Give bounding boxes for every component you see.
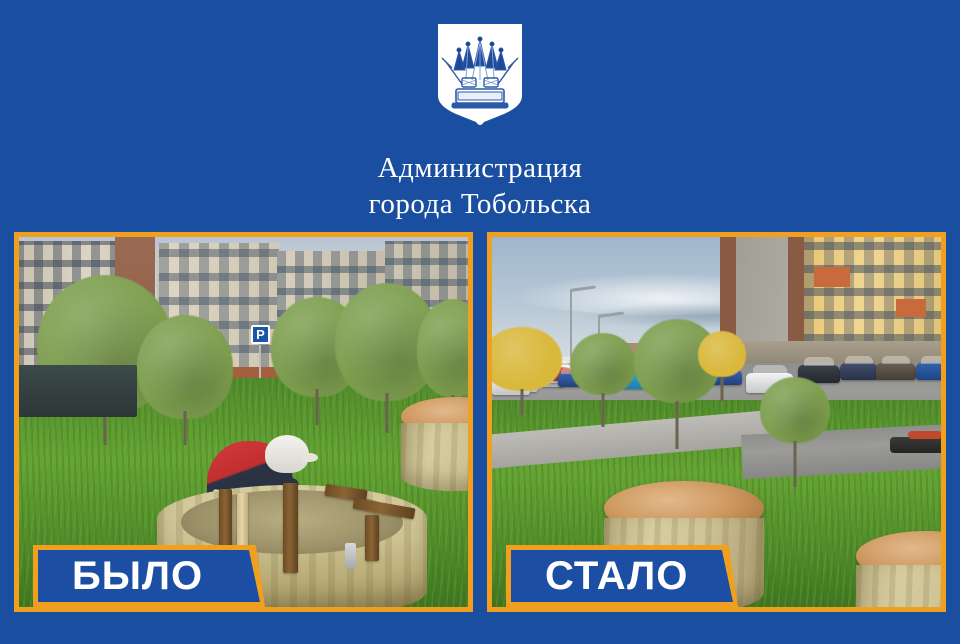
support-board — [365, 515, 379, 561]
header: Администрация города Тобольска — [0, 0, 960, 225]
tree-trunk — [184, 411, 187, 445]
wooden-planter — [856, 531, 941, 607]
tree-canopy — [570, 333, 636, 395]
car — [876, 363, 916, 380]
car — [916, 363, 941, 380]
wooden-planter — [401, 397, 468, 491]
tree-trunk — [602, 393, 605, 427]
tree-canopy — [760, 377, 830, 443]
coat-of-arms-icon — [432, 22, 528, 128]
tree-canopy — [492, 327, 562, 391]
banner-before: БЫЛО — [33, 545, 265, 607]
tree-canopy — [417, 299, 468, 397]
photo-card-before: P — [14, 232, 473, 612]
tree — [570, 333, 636, 427]
tree-trunk — [676, 401, 679, 449]
photo-gallery: P — [0, 232, 960, 614]
planter-body — [856, 565, 941, 607]
photo-card-after: СТАЛО — [487, 232, 946, 612]
tree — [760, 377, 830, 487]
building-accent — [814, 267, 850, 287]
org-title-line-1: Администрация — [378, 152, 583, 184]
tree-trunk — [794, 441, 797, 487]
banner-label-before: БЫЛО — [38, 554, 203, 599]
banner-inner: СТАЛО — [511, 550, 733, 602]
equipment — [908, 431, 941, 439]
equipment — [890, 437, 941, 453]
fence — [19, 365, 137, 417]
banner-inner: БЫЛО — [38, 550, 260, 602]
car — [840, 363, 878, 380]
tree-trunk — [721, 377, 724, 401]
metal-bracket — [345, 543, 356, 569]
tree-canopy — [137, 315, 233, 419]
banner-after: СТАЛО — [506, 545, 738, 607]
tree — [698, 331, 746, 401]
planter-body — [401, 423, 468, 491]
tree-trunk — [386, 393, 389, 433]
parking-sign: P — [251, 325, 270, 344]
tree-trunk — [521, 389, 524, 415]
building-accent — [896, 299, 926, 317]
support-board — [283, 483, 298, 573]
tree-canopy — [698, 331, 746, 377]
worker-cap — [265, 435, 309, 473]
page-title: Администрация города Тобольска — [369, 150, 592, 223]
banner-label-after: СТАЛО — [511, 554, 688, 599]
tree — [492, 327, 562, 415]
org-title-line-2: города Тобольска — [369, 186, 592, 222]
